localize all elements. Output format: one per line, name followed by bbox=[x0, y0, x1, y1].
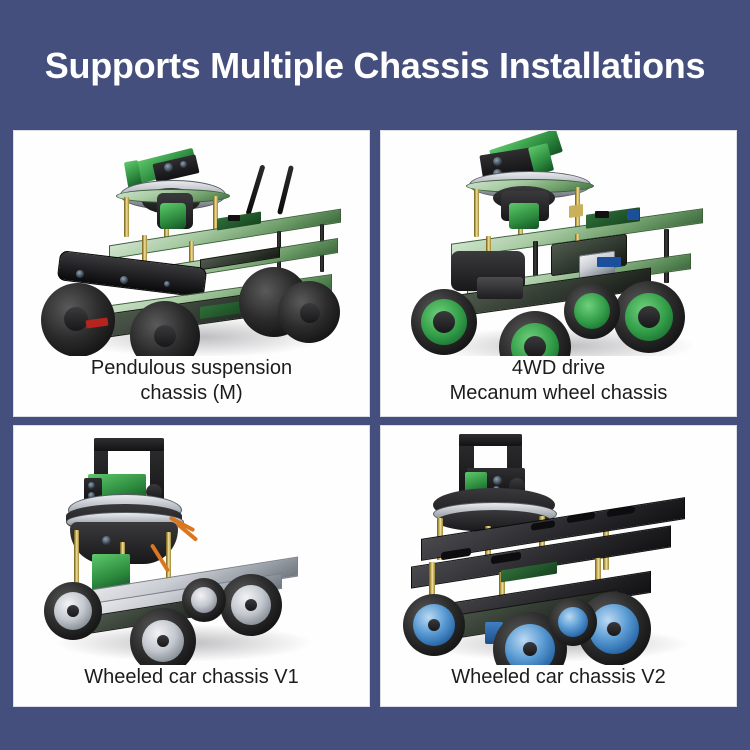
chassis-caption-pendulous-suspension: Pendulous suspension chassis (M) bbox=[14, 356, 369, 416]
chassis-card-wheeled-v1[interactable]: Wheeled car chassis V1 bbox=[13, 425, 370, 707]
chassis-card-grid: Pendulous suspension chassis (M) bbox=[13, 130, 737, 707]
chassis-photo-pendulous-suspension bbox=[14, 131, 369, 356]
chassis-caption-4wd-mecanum: 4WD drive Mecanum wheel chassis bbox=[381, 356, 736, 416]
chassis-caption-wheeled-v2: Wheeled car chassis V2 bbox=[381, 665, 736, 706]
chassis-photo-4wd-mecanum bbox=[381, 131, 736, 356]
page-title: Supports Multiple Chassis Installations bbox=[0, 46, 750, 86]
chassis-card-wheeled-v2[interactable]: Wheeled car chassis V2 bbox=[380, 425, 737, 707]
chassis-card-4wd-mecanum[interactable]: 4WD drive Mecanum wheel chassis bbox=[380, 130, 737, 417]
chassis-card-pendulous-suspension[interactable]: Pendulous suspension chassis (M) bbox=[13, 130, 370, 417]
chassis-photo-wheeled-v2 bbox=[381, 426, 736, 665]
chassis-photo-wheeled-v1 bbox=[14, 426, 369, 665]
chassis-caption-wheeled-v1: Wheeled car chassis V1 bbox=[14, 665, 369, 706]
promo-banner: Supports Multiple Chassis Installations bbox=[0, 0, 750, 750]
